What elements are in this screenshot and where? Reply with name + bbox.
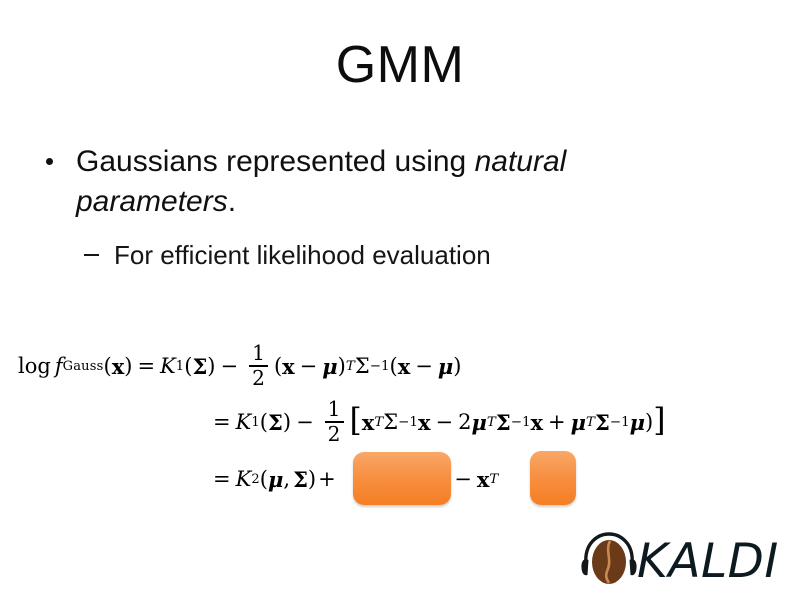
equation-line-2: =K1(Σ)−12[xTΣ−1x−2μTΣ−1x+μTΣ−1μ)] bbox=[208, 394, 798, 450]
eq1-quad-mu2: μ bbox=[438, 354, 453, 379]
highlight-box-left[interactable] bbox=[353, 452, 451, 505]
equation-line-1: logfGauss(x)=K1(Σ)−12(x−μ)TΣ−1(x−μ) bbox=[18, 338, 798, 394]
eq2-bracket-close: ] bbox=[653, 409, 665, 434]
eq2-x-c: x bbox=[531, 410, 544, 435]
bullet-dot-icon bbox=[46, 158, 53, 165]
highlight-box-right[interactable] bbox=[530, 451, 576, 505]
eq2-frac-denominator: 2 bbox=[325, 423, 344, 445]
eq1-K1: K bbox=[160, 354, 176, 378]
eq3-K2: K bbox=[236, 467, 252, 491]
eq3-plus: + bbox=[316, 467, 338, 491]
eq2-sigma: Σ bbox=[268, 410, 283, 435]
eq1-sigma-inverse-exponent: −1 bbox=[370, 359, 390, 374]
eq1-frac-denominator: 2 bbox=[249, 367, 268, 389]
eq1-sigma: Σ bbox=[192, 354, 207, 379]
eq1-quad2-paren-close: ) bbox=[453, 354, 461, 378]
eq3-minus: − bbox=[449, 467, 477, 491]
bullet-list: Gaussians represented using natural para… bbox=[34, 142, 754, 273]
eq2-minus-2: − bbox=[431, 410, 459, 434]
eq2-xT: x bbox=[362, 410, 375, 435]
eq2-fraction-one-half: 12 bbox=[325, 399, 344, 445]
eq1-quad2-minus: − bbox=[410, 354, 438, 378]
eq3-K2-paren-open: ( bbox=[260, 467, 268, 491]
eq1-quad2-paren-open: ( bbox=[390, 354, 398, 378]
dash-marker-icon bbox=[84, 254, 99, 256]
eq1-vector-x: x bbox=[112, 354, 125, 379]
eq1-quad-x2: x bbox=[398, 354, 411, 379]
eq1-fraction-one-half: 12 bbox=[249, 343, 268, 389]
eq1-f: f bbox=[51, 354, 63, 378]
eq2-two: 2 bbox=[458, 410, 471, 434]
eq2-xT-transpose: T bbox=[374, 415, 383, 430]
eq1-quad-paren-open: ( bbox=[274, 354, 282, 378]
kaldi-wordmark: KALDI bbox=[637, 538, 779, 585]
eq2-K1-paren-open: ( bbox=[260, 410, 268, 434]
eq2-K1-paren-close: ) bbox=[283, 410, 291, 434]
eq3-xT-transpose: T bbox=[489, 472, 498, 487]
eq1-paren-open: ( bbox=[104, 354, 112, 378]
eq2-x-b: x bbox=[418, 410, 431, 435]
slide-canvas: GMM Gaussians represented using natural … bbox=[0, 0, 800, 599]
eq1-f-subscript: Gauss bbox=[63, 359, 104, 374]
eq2-K1: K bbox=[236, 410, 252, 434]
eq1-K1-paren-open: ( bbox=[184, 354, 192, 378]
eq2-equals: = bbox=[208, 410, 236, 434]
eq1-sigma-inverse: Σ bbox=[355, 354, 370, 378]
eq3-xT: x bbox=[477, 467, 490, 492]
eq2-bracket-open: [ bbox=[350, 409, 362, 434]
bullet-level2-label: For efficient likelihood evaluation bbox=[114, 240, 491, 270]
eq1-quad-mu1: μ bbox=[322, 354, 337, 379]
eq2-sigma3: Σ bbox=[595, 410, 610, 435]
eq2-mu1: μ bbox=[471, 410, 486, 435]
eq1-K1-subscript: 1 bbox=[176, 359, 184, 374]
eq2-plus: + bbox=[543, 410, 571, 434]
eq3-K2-sigma: Σ bbox=[290, 467, 308, 492]
eq2-minus: − bbox=[291, 410, 319, 434]
eq3-K2-mu: μ bbox=[268, 467, 283, 492]
eq2-K1-subscript: 1 bbox=[251, 415, 259, 430]
bullet-item-level1: Gaussians represented using natural para… bbox=[34, 142, 676, 222]
kaldi-logo: KALDI bbox=[578, 528, 796, 594]
eq1-quad-minus: − bbox=[295, 354, 323, 378]
eq1-quad-x1: x bbox=[282, 354, 295, 379]
eq2-mu2: μ bbox=[571, 410, 586, 435]
eq3-K2-comma: , bbox=[283, 467, 290, 491]
eq1-minus: − bbox=[216, 354, 244, 378]
eq2-mu2-transpose: T bbox=[586, 415, 595, 430]
eq1-paren-close: ) bbox=[124, 354, 132, 378]
eq1-K1-paren-close: ) bbox=[207, 354, 215, 378]
eq1-frac-numerator: 1 bbox=[249, 343, 268, 365]
eq1-equals: = bbox=[132, 354, 160, 378]
eq2-frac-numerator: 1 bbox=[325, 399, 344, 421]
eq3-K2-subscript: 2 bbox=[251, 472, 259, 487]
bullet-level1-run-normal-1: Gaussians represented using bbox=[76, 145, 475, 178]
bullet-item-level2: For efficient likelihood evaluation bbox=[84, 239, 754, 273]
eq2-mu1-transpose: T bbox=[487, 415, 496, 430]
page-title: GMM bbox=[0, 38, 800, 93]
eq2-mu3: μ bbox=[630, 410, 645, 435]
eq2-sigma2: Σ bbox=[496, 410, 511, 435]
equation-line-3: =K2(μ,Σ)+x−xTx bbox=[208, 450, 798, 508]
eq3-equals: = bbox=[208, 467, 236, 491]
bullet-level1-run-normal-2: . bbox=[228, 185, 236, 218]
eq1-log: log bbox=[18, 354, 51, 378]
eq2-sigma1: Σ bbox=[383, 410, 398, 434]
eq2-sigma2-exponent: −1 bbox=[511, 415, 531, 430]
eq2-sigma1-exponent: −1 bbox=[398, 415, 418, 430]
eq1-transpose: T bbox=[346, 359, 355, 374]
eq1-quad-paren-close: ) bbox=[338, 354, 346, 378]
eq3-K2-paren-close: ) bbox=[308, 467, 316, 491]
coffee-bean-headphones-icon bbox=[578, 529, 640, 594]
eq2-paren-close: ) bbox=[645, 410, 653, 434]
eq2-sigma3-exponent: −1 bbox=[610, 415, 630, 430]
